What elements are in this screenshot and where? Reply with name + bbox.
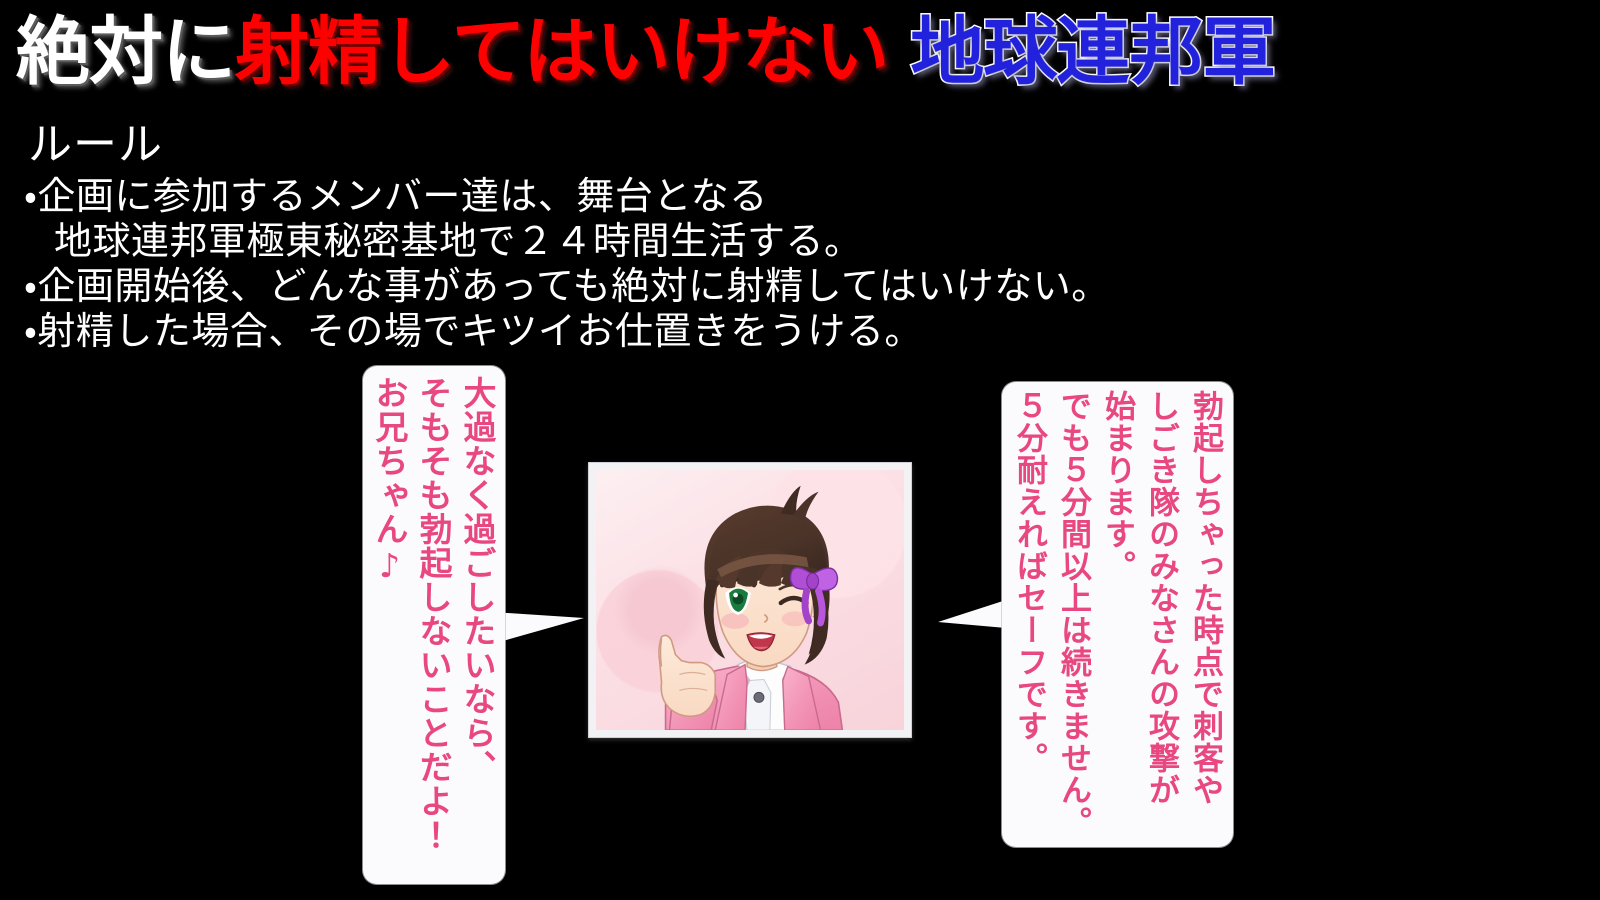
- slide-canvas: 絶対に射精してはいけない地球連邦軍 ルール ・企画に参加するメンバー達は、舞台と…: [0, 0, 1600, 900]
- title-segment-red: 射精してはいけない: [235, 4, 888, 100]
- speech-bubble-right-text: 勃起しちゃった時点で刺客や しごき隊のみなさんの攻撃が 始まります。 でも５分間…: [1002, 382, 1233, 847]
- rule-line-3: ・企画開始後、どんな事があっても絶対に射精してはいけない。: [24, 264, 1110, 309]
- anime-girl-illustration: [596, 470, 904, 730]
- pointing-hand-icon: [659, 635, 715, 716]
- rule-line-2: 地球連邦軍極東秘密基地で２４時間生活する。: [24, 219, 1110, 264]
- speech-bubble-right: 勃起しちゃった時点で刺客や しごき隊のみなさんの攻撃が 始まります。 でも５分間…: [1002, 382, 1233, 847]
- title-segment-white: 絶対に: [16, 4, 235, 100]
- page-title: 絶対に射精してはいけない地球連邦軍: [16, 4, 1275, 100]
- bubble-left-column-1: 大過なく過ごしたいなら、: [455, 376, 499, 784]
- rule-line-4: ・射精した場合、その場でキツイお仕置きをうける。: [24, 309, 1110, 354]
- rules-heading: ルール: [28, 118, 1110, 172]
- speech-bubble-left-tail: [492, 612, 584, 644]
- bubble-left-column-2: そもそも勃起しないことだよ！: [411, 376, 455, 852]
- bubble-left-column-3: お兄ちゃん♪: [367, 376, 411, 586]
- character-photo-frame: [588, 462, 912, 738]
- speech-bubble-left: 大過なく過ごしたいなら、 そもそも勃起しないことだよ！ お兄ちゃん♪: [363, 366, 505, 884]
- bubble-right-column-2: しごき隊のみなさんの攻撃が: [1139, 390, 1183, 806]
- speech-bubble-left-text: 大過なく過ごしたいなら、 そもそも勃起しないことだよ！ お兄ちゃん♪: [363, 366, 505, 884]
- title-segment-blue: 地球連邦軍: [910, 4, 1275, 100]
- bubble-right-column-5: ５分耐えればセーフです。: [1007, 390, 1051, 774]
- character-photo: [596, 470, 904, 730]
- rule-line-1: ・企画に参加するメンバー達は、舞台となる: [24, 174, 1110, 219]
- bubble-right-column-3: 始まります。: [1095, 390, 1139, 582]
- bubble-right-column-4: でも５分間以上は続きません。: [1051, 390, 1095, 838]
- rules-block: ルール ・企画に参加するメンバー達は、舞台となる 地球連邦軍極東秘密基地で２４時…: [24, 118, 1110, 354]
- speech-bubble-right-tail: [938, 600, 1006, 628]
- bubble-right-column-1: 勃起しちゃった時点で刺客や: [1183, 390, 1227, 806]
